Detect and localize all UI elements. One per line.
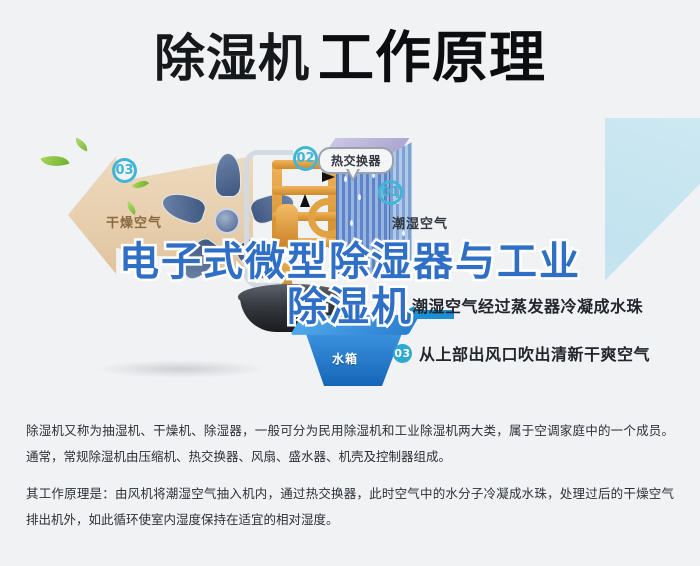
humid-air-label: 潮湿空气 — [392, 213, 448, 232]
leaf-icon — [73, 138, 90, 152]
overlay-line-2: 除湿机 — [0, 285, 700, 330]
poster-root: 除湿机 工作原理 干燥空气 — [0, 0, 700, 566]
badge-02: 02 — [293, 146, 318, 171]
water-tank-label: 水箱 — [332, 350, 358, 367]
badge-03: 03 — [112, 158, 137, 183]
overlay-watermark-title: 电子式微型除湿器与工业 除湿机 — [0, 240, 700, 330]
step-03-text: 从上部出风口吹出清新干爽空气 — [419, 341, 650, 365]
page-title: 除湿机 工作原理 — [0, 24, 700, 94]
step-line-03: 03 从上部出风口吹出清新干爽空气 — [393, 341, 650, 365]
overlay-line-1: 电子式微型除湿器与工业 — [0, 240, 700, 285]
step-03-badge: 03 — [393, 344, 412, 363]
body-paragraph-1: 除湿机又称为抽湿机、干燥机、除湿器，一般可分为民用除湿机和工业除湿机两大类，属于… — [26, 418, 674, 469]
machine-shadow — [96, 360, 266, 378]
flow-arrow-up-icon — [300, 194, 310, 207]
badge-01: 01 — [378, 180, 403, 205]
callout-tail-icon — [346, 169, 360, 182]
fan-hub — [216, 210, 238, 232]
leaf-icon — [40, 150, 69, 171]
page-title-part2: 工作原理 — [318, 31, 546, 87]
page-title-part1: 除湿机 — [154, 34, 310, 85]
body-copy: 除湿机又称为抽湿机、干燥机、除湿器，一般可分为民用除湿机和工业除湿机两大类，属于… — [26, 418, 674, 545]
body-paragraph-2: 其工作原理是：由风机将潮湿空气抽入机内，通过热交换器，此时空气中的水分子冷凝成水… — [26, 481, 674, 532]
